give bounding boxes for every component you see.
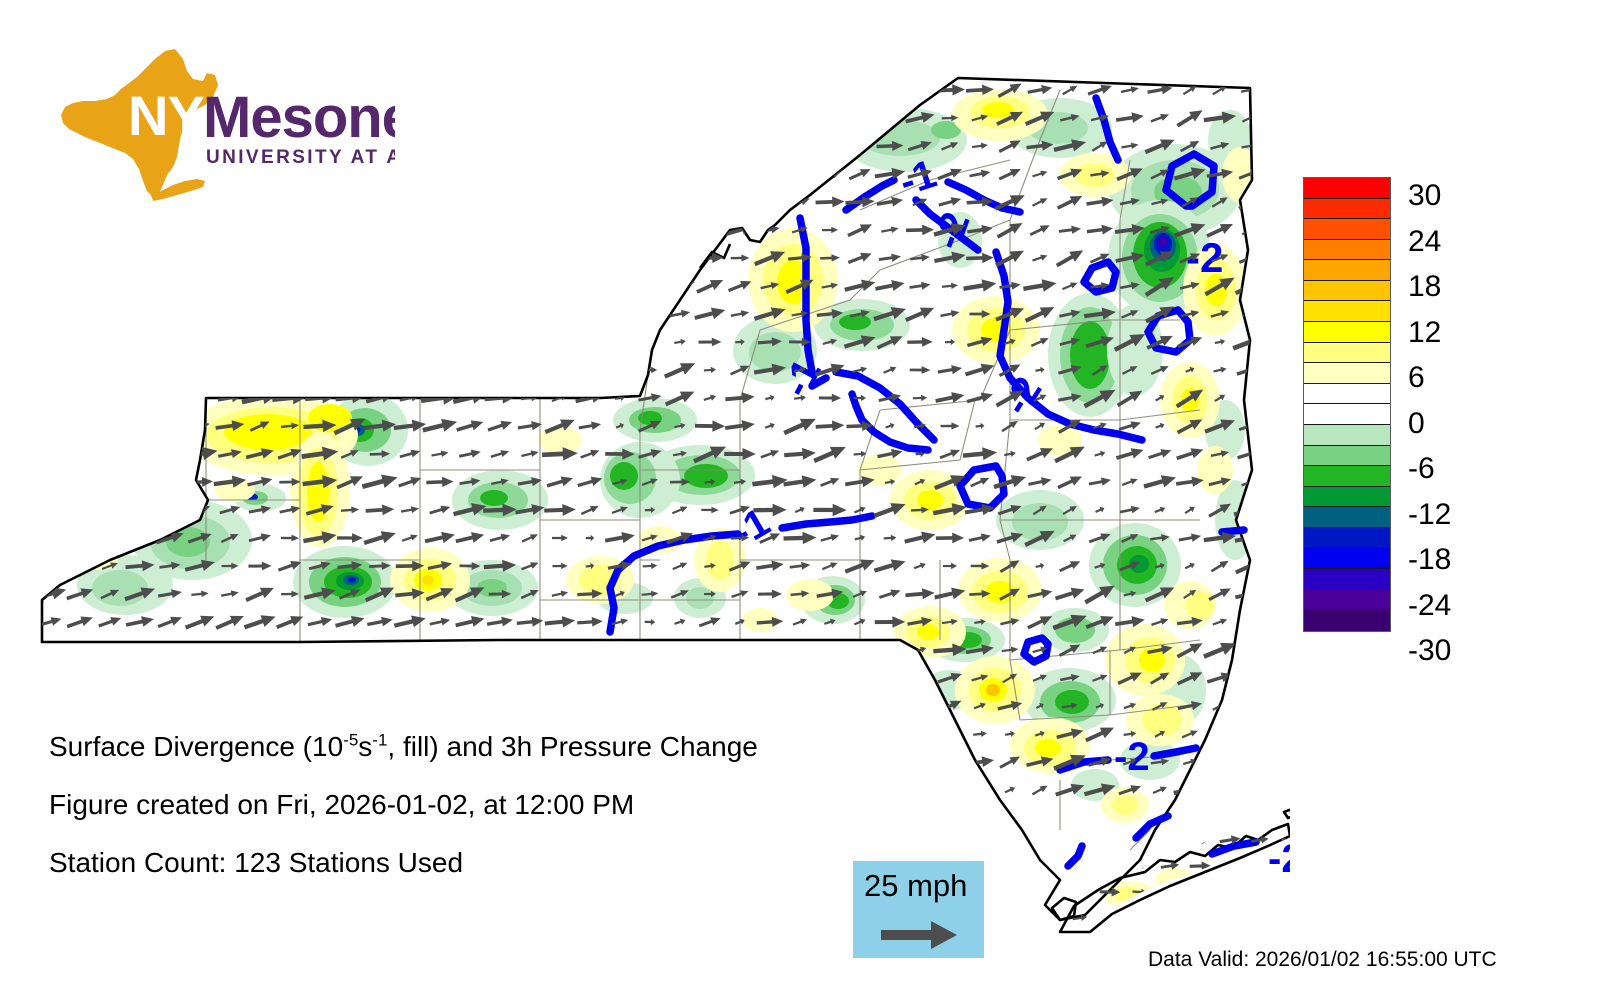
colorbar-band-10 [1304, 384, 1390, 405]
colorbar-tick-0: 0 [1408, 409, 1425, 439]
wind-arrow [455, 83, 485, 96]
wind-arrow [276, 222, 305, 237]
wind-arrow [611, 141, 628, 151]
wind-arrow [61, 357, 100, 384]
wind-arrow [188, 672, 212, 684]
wind-arrow [853, 701, 867, 711]
colorbar-band-20 [1304, 590, 1390, 611]
wind-arrow [307, 280, 333, 293]
wind-arrow [429, 170, 451, 179]
wind-arrow [603, 303, 637, 325]
wind-arrow [579, 251, 600, 264]
wind-arrow [210, 218, 250, 241]
wind-arrow [509, 271, 551, 301]
wind-arrow [574, 279, 605, 293]
wind-arrow [518, 197, 542, 207]
wind-arrow [452, 335, 487, 349]
wind-arrow [488, 698, 513, 714]
wind-arrow [128, 252, 153, 264]
wind-arrow [1129, 913, 1151, 924]
wind-arrow [429, 701, 451, 712]
wind-arrow [550, 366, 570, 375]
wind-arrow [455, 280, 484, 291]
wind-arrow [577, 83, 603, 98]
wind-arrow [274, 277, 306, 295]
wind-arrow [99, 394, 121, 402]
wind-arrow [458, 167, 481, 182]
wind-arrow [308, 645, 332, 654]
wind-arrow [36, 278, 63, 293]
wind-arrow [419, 136, 460, 157]
wind-arrow [122, 418, 158, 434]
wind-arrow [903, 696, 937, 715]
wind-arrow [126, 700, 154, 713]
wind-arrow [128, 279, 152, 292]
wind-arrow [420, 356, 461, 385]
wind-arrow [636, 195, 664, 210]
wind-arrow [547, 165, 574, 183]
wind-arrow [640, 86, 660, 95]
wind-arrow [610, 338, 630, 346]
wind-arrow [124, 392, 156, 405]
wind-arrow [752, 163, 788, 185]
wind-arrow [487, 643, 513, 657]
wind-arrow [457, 671, 484, 686]
logo-subtitle: UNIVERSITY AT ALBANY [206, 147, 395, 168]
wind-arrow [695, 668, 724, 687]
wind-arrow [787, 670, 813, 685]
wind-arrow [754, 138, 786, 154]
wind-arrow [34, 642, 66, 658]
wind-arrow [482, 138, 518, 153]
colorbar-tick-24: 24 [1408, 227, 1441, 257]
wind-arrow [480, 192, 520, 212]
wind-arrow [731, 168, 749, 180]
wind-arrow [241, 276, 278, 297]
wind-arrow [580, 699, 600, 712]
wind-arrow [151, 304, 190, 324]
wind-arrow [664, 248, 696, 267]
wind-arrow [843, 108, 876, 128]
wind-arrow [816, 670, 843, 687]
wind-arrow [370, 365, 390, 375]
wind-speed-legend: 25 mph [853, 861, 984, 958]
wind-arrow [585, 338, 596, 345]
wind-arrow [361, 301, 399, 328]
wind-arrow [847, 82, 873, 98]
wind-arrow [484, 363, 515, 376]
wind-arrow [93, 362, 127, 377]
wind-arrow [248, 698, 272, 715]
colorbar-band-1 [1304, 199, 1390, 220]
wind-arrow [332, 306, 368, 322]
caption-exp-1: -5 [343, 731, 358, 750]
colorbar-band-15 [1304, 487, 1390, 508]
wind-arrow [1243, 646, 1257, 655]
wind-arrow [160, 702, 180, 710]
wind-arrow [1242, 674, 1258, 682]
wind-arrow [247, 641, 274, 660]
wind-arrow [96, 531, 125, 545]
wind-arrow [879, 671, 900, 685]
colorbar-band-5 [1304, 281, 1390, 302]
wind-arrow [1203, 750, 1237, 774]
wind-arrow [854, 647, 865, 654]
wind-arrow [427, 672, 453, 684]
colorbar-band-17 [1304, 528, 1390, 549]
wind-arrow [157, 448, 184, 460]
wind-arrow [399, 281, 421, 292]
wind-arrow [576, 222, 604, 238]
wind-arrow [613, 673, 627, 684]
wind-arrow [606, 82, 635, 98]
wind-arrow [89, 218, 130, 243]
wind-arrow [635, 164, 664, 183]
wind-arrow [425, 80, 455, 101]
wind-arrow [101, 672, 119, 684]
wind-arrow [1159, 885, 1182, 898]
wind-arrow [191, 700, 209, 711]
wind-arrow [755, 191, 785, 212]
wind-arrow [490, 307, 511, 320]
wind-arrow [546, 192, 574, 212]
wind-arrow [185, 304, 216, 324]
wind-arrow [189, 646, 211, 654]
wind-arrow [239, 303, 281, 325]
wind-arrow [388, 245, 432, 272]
colorbar-tick--18: -18 [1408, 545, 1451, 575]
wind-arrow [65, 388, 96, 409]
wind-arrow [132, 535, 149, 542]
wind-arrow [1161, 834, 1179, 846]
wind-arrow [1244, 702, 1255, 710]
wind-arrow [280, 365, 299, 374]
colorbar [1303, 177, 1391, 632]
wind-arrow [553, 674, 566, 682]
wind-arrow [39, 559, 61, 572]
colorbar-band-3 [1304, 240, 1390, 261]
wind-arrow [215, 277, 245, 294]
wind-arrow [1221, 886, 1240, 898]
wind-arrow [455, 642, 485, 659]
wind-arrow [67, 418, 94, 434]
wind-arrow [451, 301, 489, 327]
wind-arrow [126, 445, 154, 464]
wind-arrow [517, 335, 544, 349]
wind-arrow [546, 279, 573, 294]
wind-arrow [664, 80, 697, 99]
wind-arrow [1234, 781, 1265, 799]
wind-arrow [333, 360, 367, 380]
wind-arrow [478, 107, 521, 128]
wind-arrow [639, 253, 660, 264]
nys-mesonet-logo: NYS Mesonet UNIVERSITY AT ALBANY [55, 45, 395, 205]
wind-arrow [512, 304, 548, 324]
wind-arrow [216, 672, 244, 683]
wind-arrow [518, 251, 543, 265]
wind-arrow [184, 276, 215, 296]
wind-arrow [487, 277, 512, 295]
wind-arrow [212, 360, 249, 379]
wind-arrow [666, 140, 695, 152]
wind-arrow [68, 698, 93, 715]
wind-arrow [70, 447, 91, 462]
wind-arrow [97, 503, 123, 517]
wind-arrow [221, 701, 239, 711]
wind-arrow [337, 280, 362, 293]
wind-arrow [516, 111, 544, 124]
wind-arrow [300, 246, 341, 270]
wind-arrow [66, 476, 93, 487]
wind-arrow [450, 132, 490, 160]
wind-arrow [874, 82, 906, 98]
wind-arrow [457, 361, 484, 378]
colorbar-tick--24: -24 [1408, 591, 1451, 621]
wind-arrow [215, 641, 245, 660]
wind-arrow [361, 222, 399, 238]
wind-arrow [640, 644, 660, 655]
wind-arrow [64, 671, 96, 684]
wind-arrow [790, 170, 810, 178]
wind-arrow [430, 646, 449, 653]
wind-arrow [303, 332, 338, 352]
wind-arrow [41, 506, 59, 513]
wind-arrow [1244, 617, 1255, 627]
wind-arrow [584, 674, 595, 683]
wind-arrow [418, 105, 461, 130]
wind-arrow [786, 84, 813, 97]
wind-arrow [34, 219, 66, 241]
wind-arrow [603, 196, 636, 209]
wind-arrow [1279, 886, 1290, 899]
wind-arrow [813, 640, 847, 661]
colorbar-band-18 [1304, 548, 1390, 569]
wind-arrow [546, 642, 574, 658]
wind-arrow [422, 193, 458, 211]
wind-arrow [694, 195, 725, 209]
caption-exp-2: -1 [372, 731, 387, 750]
wind-arrow [118, 218, 162, 242]
wind-arrow [667, 222, 693, 238]
wind-arrow [304, 669, 335, 687]
wind-arrow [341, 645, 359, 655]
wind-arrow [603, 249, 637, 267]
caption-title-pre: Surface Divergence (10 [49, 731, 343, 762]
contour-label: -2 [1114, 735, 1150, 779]
caption-block: Surface Divergence (10-5s-1, fill) and 3… [49, 718, 949, 892]
wind-arrow [40, 702, 60, 710]
wind-arrow [38, 252, 62, 265]
wind-arrow [153, 387, 188, 409]
wind-arrow [669, 196, 691, 207]
wind-arrow [365, 250, 394, 267]
caption-title-post: , fill) and 3h Pressure Change [387, 731, 757, 762]
wind-arrow [637, 112, 663, 124]
wind-arrow [93, 473, 127, 490]
wind-arrow [578, 309, 602, 319]
wind-arrow [395, 670, 424, 687]
wind-arrow [543, 221, 577, 240]
wind-arrow [633, 277, 666, 294]
wind-arrow [674, 703, 686, 709]
wind-arrow [513, 134, 547, 158]
wind-arrow [909, 86, 932, 95]
wind-arrow [721, 639, 759, 660]
wind-arrow [1190, 913, 1209, 922]
wind-arrow [544, 250, 577, 267]
wind-arrow [37, 391, 64, 405]
wind-arrow [853, 673, 867, 683]
wind-arrow [367, 335, 394, 349]
wind-arrow [155, 362, 185, 378]
wind-arrow [814, 696, 846, 716]
contour-label: -2 [1268, 837, 1290, 881]
wind-arrow [123, 499, 156, 520]
wind-arrow [392, 191, 427, 214]
wind-arrow [512, 222, 547, 238]
colorbar-band-19 [1304, 569, 1390, 590]
wind-arrow [453, 223, 488, 237]
wind-arrow [249, 252, 271, 264]
data-valid-timestamp: Data Valid: 2026/01/02 16:55:00 UTC [1148, 948, 1497, 972]
wind-arrow [94, 333, 126, 351]
wind-arrow [697, 642, 723, 659]
wind-arrow [69, 280, 91, 293]
wind-arrow [98, 419, 123, 434]
wind-arrow [391, 82, 429, 98]
colorbar-tick--6: -6 [1408, 454, 1435, 484]
wind-arrow [272, 251, 308, 265]
wind-arrow [458, 698, 483, 713]
wind-arrow [1215, 730, 1226, 739]
wind-arrow [607, 361, 633, 379]
wind-arrow [483, 222, 517, 238]
colorbar-tick-labels: 3024181260-6-12-18-24-30 [1408, 160, 1518, 650]
wind-arrow [125, 641, 155, 660]
wind-arrow [365, 700, 395, 712]
wind-arrow [579, 645, 601, 655]
wind-arrow [37, 670, 64, 686]
wind-arrow [514, 165, 546, 183]
wind-arrow [61, 246, 100, 270]
wind-arrow [428, 225, 452, 235]
colorbar-tick-6: 6 [1408, 363, 1425, 393]
colorbar-tick--30: -30 [1408, 636, 1451, 666]
wind-arrow [752, 698, 789, 714]
caption-line-station-count: Station Count: 123 Stations Used [49, 834, 949, 892]
wind-arrow [155, 280, 185, 291]
wind-arrow [180, 217, 220, 242]
wind-arrow [608, 278, 632, 293]
wind-arrow [155, 670, 185, 686]
wind-arrow [486, 169, 513, 179]
wind-arrow [213, 331, 246, 353]
wind-arrow [607, 110, 632, 127]
wind-arrow [157, 420, 183, 432]
wind-arrow [514, 669, 545, 687]
wind-arrow [93, 695, 127, 718]
wind-arrow [876, 699, 903, 714]
wind-arrow [399, 364, 421, 377]
wind-arrow [1219, 913, 1241, 924]
wind-arrow [1191, 888, 1208, 897]
wind-arrow [517, 697, 543, 714]
colorbar-band-21 [1304, 610, 1390, 631]
wind-arrow [307, 306, 334, 323]
wind-arrow [33, 446, 66, 462]
caption-line-title: Surface Divergence (10-5s-1, fill) and 3… [49, 718, 949, 776]
wind-arrow [449, 103, 492, 133]
wind-arrow [338, 249, 363, 266]
wind-arrow [421, 335, 460, 350]
wind-arrow [701, 703, 718, 710]
wind-arrow [39, 475, 60, 488]
wind-arrow [696, 84, 725, 97]
wind-arrow [128, 476, 152, 488]
wind-arrow [181, 249, 219, 266]
wind-arrow [727, 111, 753, 124]
wind-arrow [492, 674, 509, 683]
colorbar-tick--12: -12 [1408, 500, 1451, 530]
wind-arrow [604, 224, 636, 237]
wind-arrow [753, 83, 787, 97]
wind-arrow [62, 301, 99, 327]
wind-arrow [152, 221, 188, 239]
wind-arrow [92, 302, 128, 326]
wind-arrow [35, 530, 64, 545]
wind-arrow [391, 219, 430, 240]
wind-arrow [549, 112, 570, 124]
wind-arrow [544, 135, 576, 158]
colorbar-band-7 [1304, 322, 1390, 343]
logo-mesonet-text: Mesonet [203, 85, 395, 150]
wind-arrow [612, 700, 629, 711]
wind-arrow [548, 83, 572, 97]
wind-arrow [338, 699, 362, 712]
wind-arrow [1253, 888, 1267, 896]
wind-arrow [665, 168, 695, 180]
wind-arrow [1202, 776, 1237, 804]
wind-arrow [100, 281, 120, 291]
wind-arrow [641, 142, 659, 151]
wind-arrow [155, 248, 186, 268]
wind-arrow [819, 139, 841, 153]
wind-arrow [544, 335, 576, 349]
wind-arrow [662, 107, 697, 129]
wind-arrow [29, 328, 71, 356]
wind-arrow [306, 224, 335, 236]
wind-arrow [390, 160, 430, 187]
wind-arrow [363, 669, 396, 687]
wind-arrow [794, 702, 805, 711]
wind-arrow [183, 334, 217, 350]
wind-arrow [156, 504, 184, 517]
wind-arrow [580, 197, 600, 206]
colorbar-band-12 [1304, 425, 1390, 446]
wind-arrow [275, 306, 305, 322]
wind-arrow [693, 162, 727, 185]
wind-arrow [396, 111, 424, 124]
wind-arrow-icon [881, 919, 959, 951]
wind-arrow [580, 170, 600, 178]
wind-arrow [160, 645, 180, 655]
wind-arrow [608, 643, 632, 658]
wind-arrow [520, 646, 541, 655]
wind-arrow [96, 253, 123, 264]
caption-title-mid: s [358, 731, 372, 762]
wind-arrow [68, 505, 92, 515]
wind-arrow [68, 222, 93, 239]
